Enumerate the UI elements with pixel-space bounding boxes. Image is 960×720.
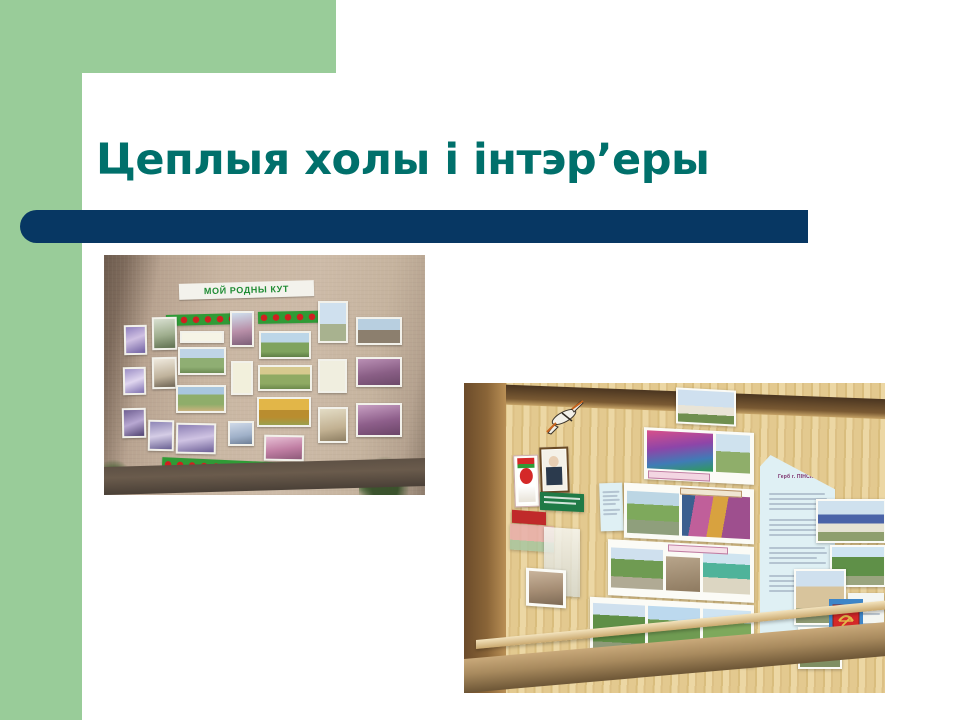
wall-photo	[122, 408, 147, 438]
slide-title: Цеплыя холы і інтэр’еры	[96, 131, 856, 191]
photo-left-moy-rodny-kut: МОЙ РОДНЫ КУТ	[104, 255, 425, 495]
stand-panel-city-views	[608, 539, 754, 603]
decor-green-left-column	[0, 0, 82, 720]
wall-photo	[356, 317, 402, 345]
group-photo-plate	[526, 568, 566, 609]
red-label-plate	[512, 510, 546, 525]
wall-photo	[231, 361, 253, 395]
wall-photo	[152, 357, 178, 389]
wall-photo	[258, 365, 312, 391]
wall-photo	[148, 420, 175, 451]
wall-photo	[178, 347, 226, 375]
green-label-plate	[540, 492, 584, 512]
wall-photo	[123, 367, 146, 395]
pupils-photo	[816, 499, 885, 543]
wall-photo	[264, 435, 304, 462]
president-portrait-frame	[539, 447, 570, 494]
wall-photo	[356, 403, 402, 437]
wall-photo	[152, 317, 178, 350]
wall-photo	[124, 325, 148, 355]
stand-panel-ceremony	[624, 483, 754, 545]
wall-photo	[176, 423, 217, 455]
title-underline-bar	[20, 210, 808, 243]
wall-photo	[228, 421, 254, 446]
slide-canvas: Цеплыя холы і інтэр’еры МОЙ РОДНЫ КУТ	[0, 0, 960, 720]
stork-sculpture-icon	[542, 395, 588, 441]
photo-right-tvaya-zyamlya: Герб г. ПІНСКА	[464, 383, 885, 693]
state-emblem-frame	[513, 455, 540, 508]
wall-photo	[230, 311, 254, 347]
wall-photo	[259, 331, 311, 359]
decor-green-top-block	[0, 0, 336, 73]
wall-photo	[356, 357, 402, 387]
wall-leaflet	[599, 483, 624, 532]
wall-photo	[180, 331, 224, 343]
wall-photo	[318, 407, 348, 443]
wall-photo	[318, 359, 347, 393]
stand-panel-festival	[644, 427, 754, 485]
stand-panel-building	[676, 387, 736, 426]
wall-photo	[257, 397, 311, 427]
wall-photo	[176, 385, 226, 413]
wall-photo	[318, 301, 348, 343]
